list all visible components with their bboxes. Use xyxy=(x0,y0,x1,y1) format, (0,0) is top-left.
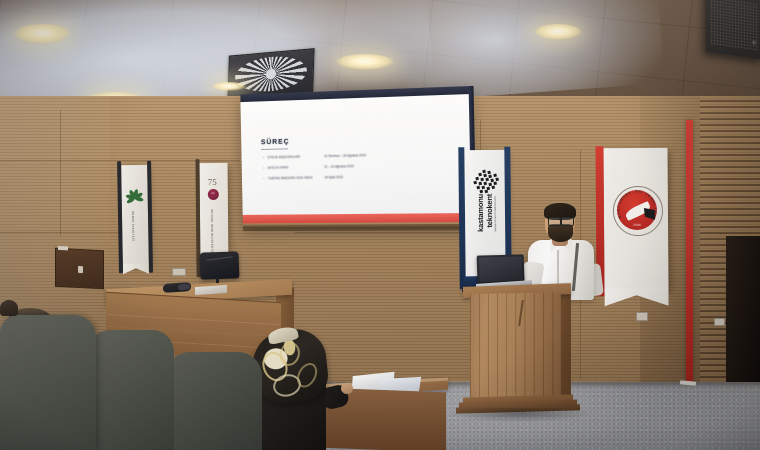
projection-screen: SÜREÇ •ÜYELİK BAŞVURULARI10 Temmuz – 30 … xyxy=(240,86,472,227)
slide-title: SÜREÇ xyxy=(261,137,290,146)
slide-row-label: ÜYELİK BAŞVURULARI xyxy=(267,154,324,159)
screen-bottom-shadow xyxy=(243,224,473,231)
checker-dots-icon xyxy=(473,170,499,192)
attendee-far-left-head xyxy=(0,300,18,316)
banner-label: ORMAN FAKÜLTESİ xyxy=(131,211,135,241)
wall-panel-box xyxy=(55,248,104,290)
office-chair xyxy=(200,251,240,279)
leaf-logo-icon xyxy=(127,187,144,207)
slide-row-value: 10 Temmuz – 30 Ağustos 2023 xyxy=(324,153,366,158)
slide-row: •TUBİTAK BAŞVURU SON TARİH15 Eylül 2023 xyxy=(263,175,343,180)
doorway xyxy=(726,236,760,396)
ceiling-light xyxy=(14,24,70,44)
banner-green-leaf: ORMAN FAKÜLTESİ xyxy=(121,165,149,265)
seal-arc-char: T xyxy=(617,205,621,207)
panel-latch xyxy=(78,266,83,273)
seal-arc-char: T xyxy=(653,207,657,210)
banner-word-primary: kastamonu xyxy=(476,194,485,232)
slide-row: •ATÖLYE FARKI21 – 31 Ağustos 2023 xyxy=(263,164,354,170)
conference-room-photo: SÜREÇ •ÜYELİK BAŞVURULARI10 Temmuz – 30 … xyxy=(0,0,760,450)
wall-seam xyxy=(295,232,475,233)
banner-word-secondary: teknokent xyxy=(485,194,494,228)
ceiling-light xyxy=(336,54,394,70)
glasses-icon xyxy=(561,217,574,226)
seal-arc-char: S xyxy=(616,209,620,211)
chair-seam xyxy=(207,256,233,261)
slide-row-value: 15 Eylül 2023 xyxy=(324,175,343,179)
slide-row-value: 21 – 31 Ağustos 2023 xyxy=(324,164,354,168)
auditorium-seat xyxy=(166,352,262,450)
slide-row-label: ATÖLYE FARKI xyxy=(268,165,325,170)
lectern-panel-grain xyxy=(470,292,561,399)
laptop-display xyxy=(479,256,523,282)
wall-loudspeaker xyxy=(706,0,760,60)
seal-arc-char: Ü xyxy=(635,189,638,193)
wall-outlet[interactable] xyxy=(714,318,725,326)
attendee-center-hand xyxy=(341,383,353,394)
seal-arc-char: U xyxy=(627,191,631,196)
wall-accent-stripe xyxy=(686,120,693,385)
slide-accent-band xyxy=(243,213,473,223)
ceiling-light xyxy=(534,24,582,40)
seal-arc-char: İ xyxy=(652,217,656,219)
conference-phone-keypad[interactable] xyxy=(178,284,190,291)
wall-seam xyxy=(60,110,61,236)
banner-edge xyxy=(458,147,465,289)
slide-row: •ÜYELİK BAŞVURULARI10 Temmuz – 30 Ağusto… xyxy=(263,153,366,159)
seal-arc-char: İ xyxy=(641,190,643,194)
projected-slide: SÜREÇ •ÜYELİK BAŞVURULARI10 Temmuz – 30 … xyxy=(240,94,472,223)
seal-arc-char: İ xyxy=(653,203,657,205)
seal-arc-char: K xyxy=(617,215,622,219)
banner-subtitle: TEKNOLOJİ GELİŞTİRME BÖLGESİ xyxy=(495,196,497,232)
glasses-bridge xyxy=(558,219,562,220)
banner-anniversary-mark: 75 xyxy=(208,177,217,187)
seal-arc-char: A xyxy=(617,201,622,204)
emblem-text: KÜ xyxy=(208,192,219,195)
lectern-shadow xyxy=(450,408,590,422)
circle-emblem-icon: KÜ xyxy=(208,189,219,200)
seal-arc-text: KASTAMONUÜNİVERSİTESİ xyxy=(613,186,661,234)
auditorium-seat xyxy=(88,330,174,450)
banner-pole xyxy=(117,161,123,273)
speaker-bolt xyxy=(752,40,756,45)
presenter-beard xyxy=(548,224,573,242)
panel-tab xyxy=(58,246,68,251)
banner-kastamonu-universitesi: 2006 KASTAMONUÜNİVERSİTESİ xyxy=(604,148,669,290)
slide-row-label: TUBİTAK BAŞVURU SON TARİH xyxy=(268,176,325,181)
ceiling-light xyxy=(212,82,246,91)
wall-outlet[interactable] xyxy=(172,268,186,276)
seal-arc-char: E xyxy=(653,211,657,213)
auditorium-seat xyxy=(0,315,96,450)
wall-outlet[interactable] xyxy=(636,312,648,321)
slide-title-underline xyxy=(261,148,288,150)
